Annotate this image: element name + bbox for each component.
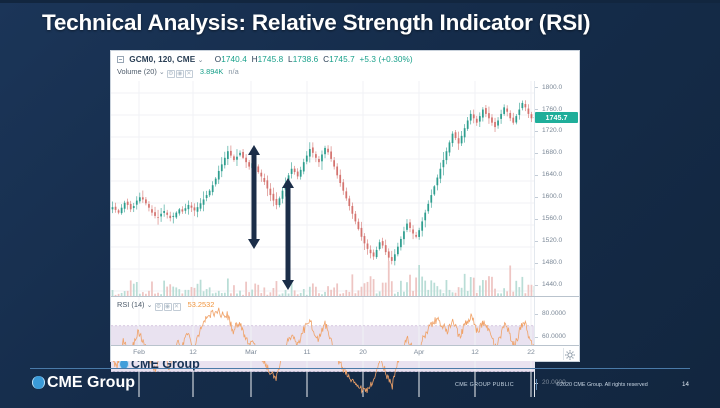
page-title: Technical Analysis: Relative Strength In…: [42, 10, 682, 42]
price-tick: 1800.0: [535, 84, 580, 91]
ohlc-values: O1740.4 H1745.8 L1738.6 C1745.7 +5.3 (+0…: [215, 55, 413, 64]
rsi-divergence-arrow-1: [243, 145, 265, 249]
volume-label[interactable]: Volume (20): [117, 67, 157, 76]
last-price-badge: 1745.7: [535, 112, 578, 123]
change-value: +5.3 (+0.30%): [360, 55, 413, 64]
price-tick: 1560.0: [535, 215, 580, 222]
price-candlestick-svg: [111, 81, 534, 296]
rsi-tick: 80.0000: [535, 310, 580, 317]
chevron-down-icon[interactable]: ⌄: [159, 69, 165, 76]
globe-icon: [32, 376, 45, 389]
price-tick: 1680.0: [535, 149, 580, 156]
settings-icon[interactable]: ⚙: [167, 70, 175, 78]
close-value: 1745.7: [329, 55, 355, 64]
gear-icon[interactable]: [563, 348, 575, 360]
time-tick: 20: [359, 349, 367, 356]
price-tick: 1640.0: [535, 171, 580, 178]
trading-chart-window[interactable]: GCM0, 120, CME ⌄ O1740.4 H1745.8 L1738.6…: [110, 50, 580, 362]
price-tick: 1440.0: [535, 281, 580, 288]
time-tick: 11: [303, 349, 310, 356]
chart-legend-volume: Volume (20) ⌄ ⚙◉✕ 3.894K n/a: [117, 67, 239, 77]
chart-legend-main: GCM0, 120, CME ⌄ O1740.4 H1745.8 L1738.6…: [117, 55, 413, 64]
price-tick: 1720.0: [535, 127, 580, 134]
price-axis[interactable]: 1800.01760.01720.01680.01640.01600.01560…: [534, 81, 579, 296]
high-value: 1745.8: [258, 55, 284, 64]
rsi-divergence-arrow-2: [277, 178, 299, 290]
rsi-label[interactable]: RSI (14): [117, 300, 145, 309]
slide-background: Technical Analysis: Relative Strength In…: [0, 0, 720, 408]
close-icon[interactable]: ✕: [185, 70, 193, 78]
time-tick: Feb: [133, 349, 145, 356]
settings-icon[interactable]: ⚙: [155, 303, 163, 311]
page-number: 14: [682, 381, 689, 388]
low-value: 1738.6: [293, 55, 319, 64]
rsi-tick: 60.0000: [535, 333, 580, 340]
time-tick: 12: [471, 349, 479, 356]
symbol-label[interactable]: GCM0, 120, CME: [129, 55, 195, 64]
time-tick: Mar: [245, 349, 257, 356]
price-tick: 1520.0: [535, 237, 580, 244]
minus-box-icon[interactable]: [117, 56, 124, 63]
open-value: 1740.4: [221, 55, 247, 64]
chevron-down-icon[interactable]: ⌄: [147, 302, 153, 309]
footer-logo-label: CME Group: [47, 374, 135, 391]
candlestick-series: [112, 100, 534, 265]
time-axis[interactable]: Feb12Mar1120Apr1222: [111, 345, 579, 361]
footer-logo: CME Group: [32, 374, 135, 392]
chart-legend-rsi: RSI (14) ⌄ ⚙◉✕ 53.2532: [117, 300, 214, 310]
price-tick: 1480.0: [535, 259, 580, 266]
footer-separator: [536, 379, 537, 390]
time-tick: 22: [527, 349, 535, 356]
volume-value: 3.894K: [200, 67, 223, 76]
price-tick: 1600.0: [535, 193, 580, 200]
time-tick: 12: [189, 349, 197, 356]
eye-icon[interactable]: ◉: [176, 70, 184, 78]
chevron-down-icon[interactable]: ⌄: [198, 57, 204, 64]
copyright-label: ©2020 CME Group. All rights reserved: [556, 382, 648, 388]
eye-icon[interactable]: ◉: [164, 303, 172, 311]
classification-label: CME GROUP PUBLIC: [455, 382, 514, 388]
footer-divider: [30, 368, 690, 369]
volume-secondary: n/a: [228, 67, 238, 76]
close-icon[interactable]: ✕: [173, 303, 181, 311]
rsi-value: 53.2532: [188, 300, 215, 309]
time-tick: Apr: [414, 349, 425, 356]
price-pane[interactable]: [111, 81, 534, 296]
